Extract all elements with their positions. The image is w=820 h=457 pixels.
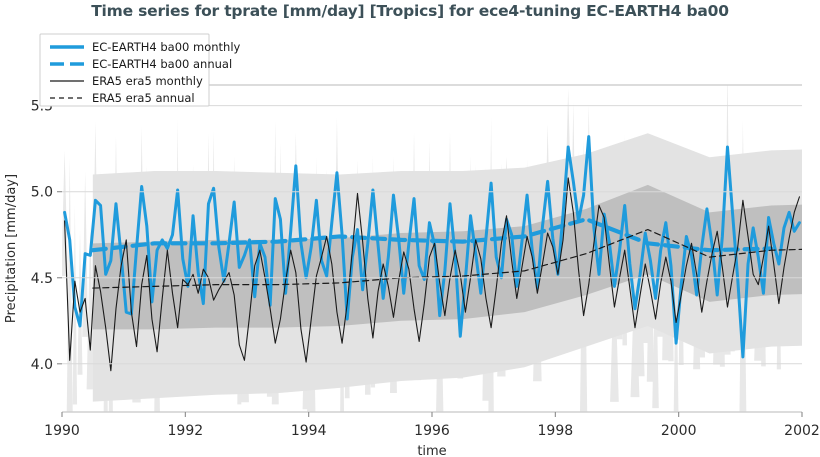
legend: EC-EARTH4 ba00 monthlyEC-EARTH4 ba00 ann… bbox=[40, 34, 241, 106]
x-tick-label: 1990 bbox=[44, 423, 80, 439]
x-tick-label: 1994 bbox=[291, 423, 327, 439]
y-axis-title: Precipitation [mm/day] bbox=[4, 174, 19, 323]
y-tick-label: 4.0 bbox=[31, 357, 53, 373]
x-tick-label: 1996 bbox=[414, 423, 450, 439]
chart-canvas: 19901992199419961998200020024.04.55.05.5… bbox=[0, 0, 820, 457]
x-tick-label: 1998 bbox=[538, 423, 574, 439]
x-tick-label: 1992 bbox=[168, 423, 204, 439]
x-tick-label: 2002 bbox=[784, 423, 820, 439]
legend-label-3: ERA5 era5 annual bbox=[92, 91, 195, 105]
legend-label-0: EC-EARTH4 ba00 monthly bbox=[92, 40, 241, 54]
y-tick-label: 5.0 bbox=[31, 185, 53, 201]
figure: Time series for tprate [mm/day] [Tropics… bbox=[0, 0, 820, 457]
legend-label-2: ERA5 era5 monthly bbox=[92, 74, 203, 88]
y-tick-label: 4.5 bbox=[31, 271, 53, 287]
x-axis-title: time bbox=[417, 444, 446, 457]
legend-label-1: EC-EARTH4 ba00 annual bbox=[92, 57, 232, 71]
x-tick-label: 2000 bbox=[661, 423, 697, 439]
